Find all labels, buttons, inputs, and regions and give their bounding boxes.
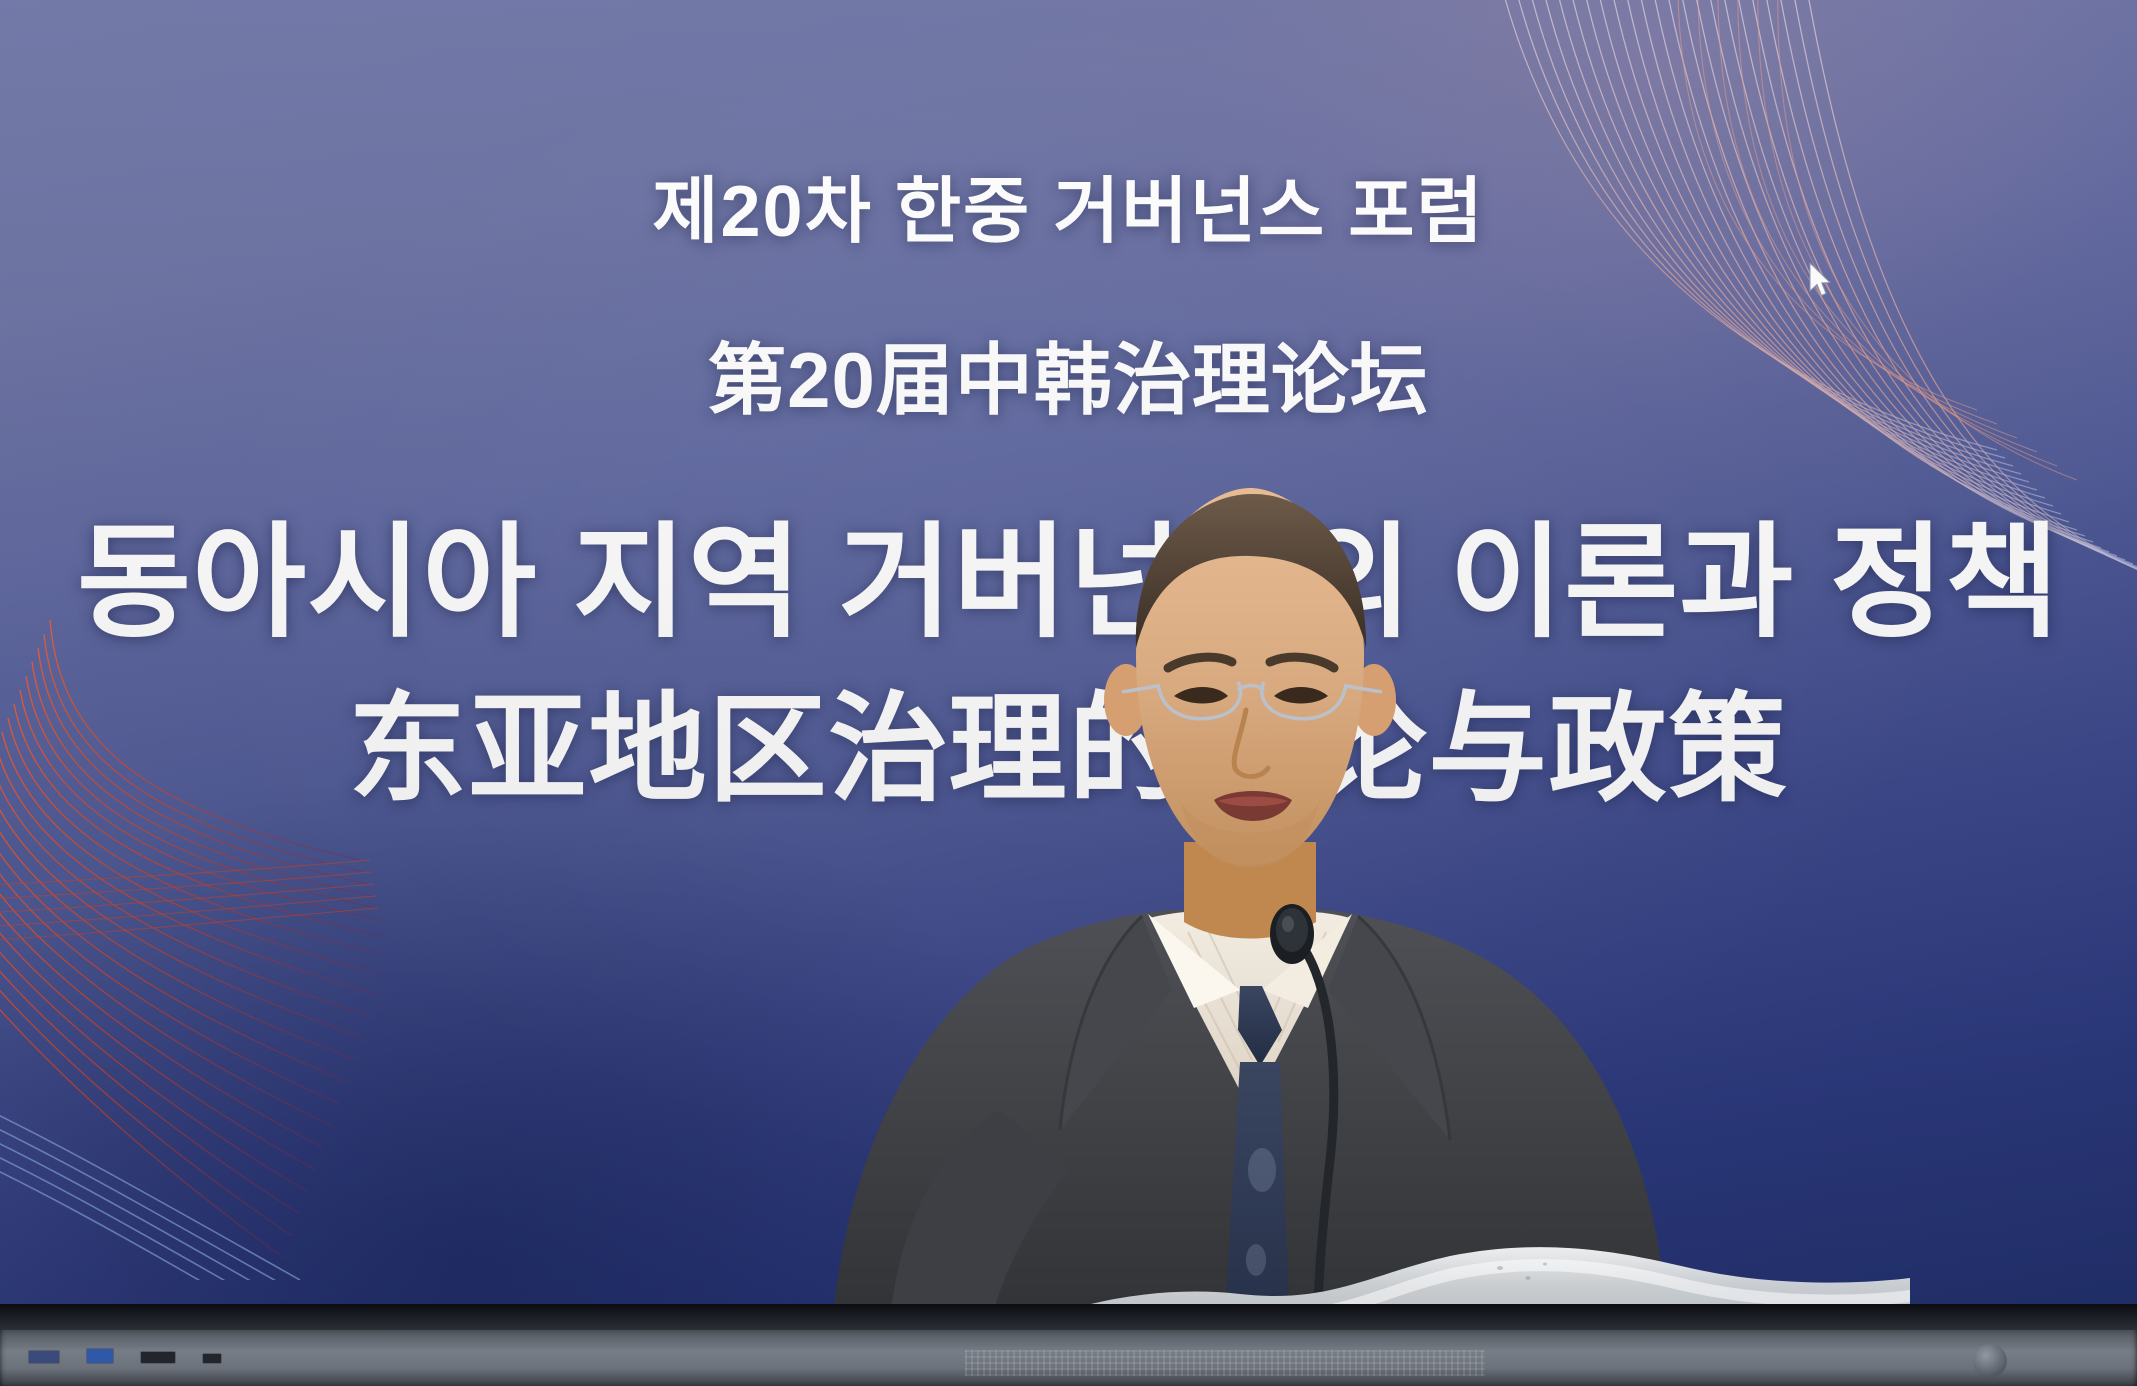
display-bezel [0, 1304, 2137, 1386]
mouse-pointer-icon[interactable] [1808, 262, 1834, 300]
photo-canvas: 제20차 한중 거버넌스 포럼 第20届中韩治理论坛 동아시아 지역 거버넌스의… [0, 0, 2137, 1386]
speaker-grille-icon [965, 1350, 1485, 1376]
hdmi-port-icon [140, 1351, 176, 1364]
usb3-port-icon [86, 1348, 114, 1364]
bezel-lip [0, 1304, 2137, 1330]
forum-title-korean: 제20차 한중 거버넌스 포럼 [0, 176, 2137, 248]
aux-port-icon [202, 1353, 222, 1364]
usb-port-icon [28, 1350, 60, 1364]
brand-badge-icon [1973, 1344, 2007, 1378]
port-cluster [28, 1348, 222, 1364]
ribbon-mesh-left-icon [0, 560, 560, 1280]
forum-title-chinese: 第20届中韩治理论坛 [0, 341, 2137, 419]
